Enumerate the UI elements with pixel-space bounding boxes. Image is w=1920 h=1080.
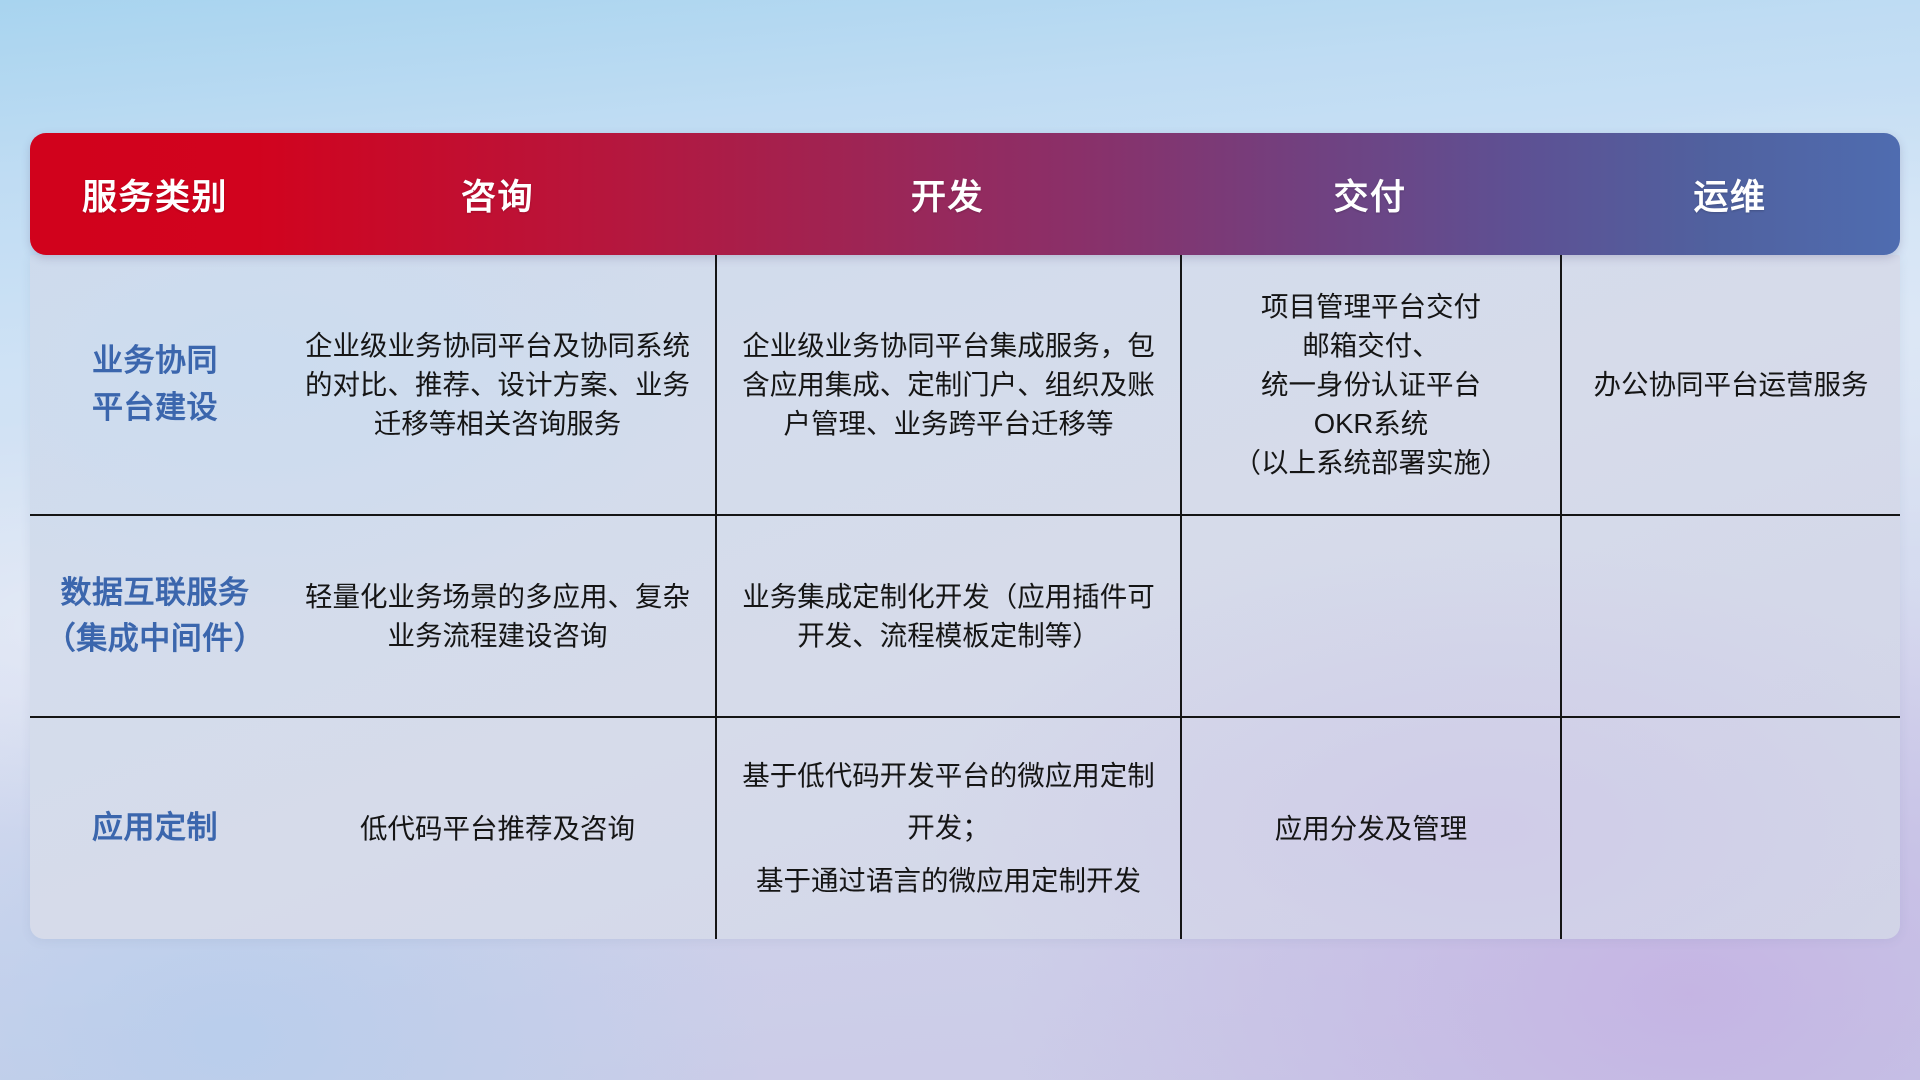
row-delivery-cell: 应用分发及管理	[1180, 718, 1560, 939]
table-row: 应用定制 低代码平台推荐及咨询 基于低代码开发平台的微应用定制开发；基于通过语言…	[30, 718, 1900, 939]
row-consulting-cell: 低代码平台推荐及咨询	[280, 718, 715, 939]
column-header-category-label: 服务类别	[82, 169, 228, 220]
column-header-operations[interactable]: 运维	[1560, 133, 1900, 255]
table-header-row: 服务类别 咨询 开发 交付 运维	[30, 133, 1900, 255]
row-category-label: 业务协同平台建设	[92, 338, 218, 431]
column-header-development[interactable]: 开发	[715, 133, 1180, 255]
row-operations-text: 办公协同平台运营服务	[1594, 365, 1869, 404]
column-header-consulting-label: 咨询	[461, 169, 534, 220]
table-rows: 业务协同平台建设 企业级业务协同平台及协同系统的对比、推荐、设计方案、业务迁移等…	[30, 255, 1900, 939]
row-category-label: 应用定制	[92, 805, 218, 852]
row-operations-cell	[1560, 516, 1900, 716]
row-consulting-text: 企业级业务协同平台及协同系统的对比、推荐、设计方案、业务迁移等相关咨询服务	[292, 326, 703, 443]
table-row: 数据互联服务（集成中间件） 轻量化业务场景的多应用、复杂业务流程建设咨询 业务集…	[30, 516, 1900, 718]
column-header-consulting[interactable]: 咨询	[280, 133, 715, 255]
column-header-category[interactable]: 服务类别	[30, 133, 280, 255]
column-header-delivery[interactable]: 交付	[1180, 133, 1560, 255]
row-delivery-text: 项目管理平台交付邮箱交付、统一身份认证平台OKR系统（以上系统部署实施）	[1234, 287, 1509, 482]
row-category-cell: 应用定制	[30, 718, 280, 939]
column-header-development-label: 开发	[911, 169, 984, 220]
row-category-cell: 数据互联服务（集成中间件）	[30, 516, 280, 716]
row-consulting-text: 轻量化业务场景的多应用、复杂业务流程建设咨询	[292, 577, 703, 655]
table-row: 业务协同平台建设 企业级业务协同平台及协同系统的对比、推荐、设计方案、业务迁移等…	[30, 255, 1900, 516]
row-development-text: 基于低代码开发平台的微应用定制开发；基于通过语言的微应用定制开发	[729, 750, 1168, 907]
row-development-text: 业务集成定制化开发（应用插件可开发、流程模板定制等）	[729, 577, 1168, 655]
column-header-operations-label: 运维	[1693, 169, 1766, 220]
service-matrix-table: 服务类别 咨询 开发 交付 运维 业务协同平台建设 企业级业务协同平台及协同系统…	[30, 133, 1900, 939]
row-development-text: 企业级业务协同平台集成服务，包含应用集成、定制门户、组织及账户管理、业务跨平台迁…	[729, 326, 1168, 443]
row-consulting-cell: 轻量化业务场景的多应用、复杂业务流程建设咨询	[280, 516, 715, 716]
row-development-cell: 企业级业务协同平台集成服务，包含应用集成、定制门户、组织及账户管理、业务跨平台迁…	[715, 255, 1180, 514]
row-category-label: 数据互联服务（集成中间件）	[45, 570, 266, 663]
row-delivery-cell	[1180, 516, 1560, 716]
row-consulting-cell: 企业级业务协同平台及协同系统的对比、推荐、设计方案、业务迁移等相关咨询服务	[280, 255, 715, 514]
column-header-delivery-label: 交付	[1333, 169, 1406, 220]
row-delivery-text: 应用分发及管理	[1275, 809, 1468, 848]
row-operations-cell	[1560, 718, 1900, 939]
row-consulting-text: 低代码平台推荐及咨询	[360, 809, 635, 848]
row-operations-cell: 办公协同平台运营服务	[1560, 255, 1900, 514]
row-delivery-cell: 项目管理平台交付邮箱交付、统一身份认证平台OKR系统（以上系统部署实施）	[1180, 255, 1560, 514]
row-category-cell: 业务协同平台建设	[30, 255, 280, 514]
row-development-cell: 业务集成定制化开发（应用插件可开发、流程模板定制等）	[715, 516, 1180, 716]
row-development-cell: 基于低代码开发平台的微应用定制开发；基于通过语言的微应用定制开发	[715, 718, 1180, 939]
